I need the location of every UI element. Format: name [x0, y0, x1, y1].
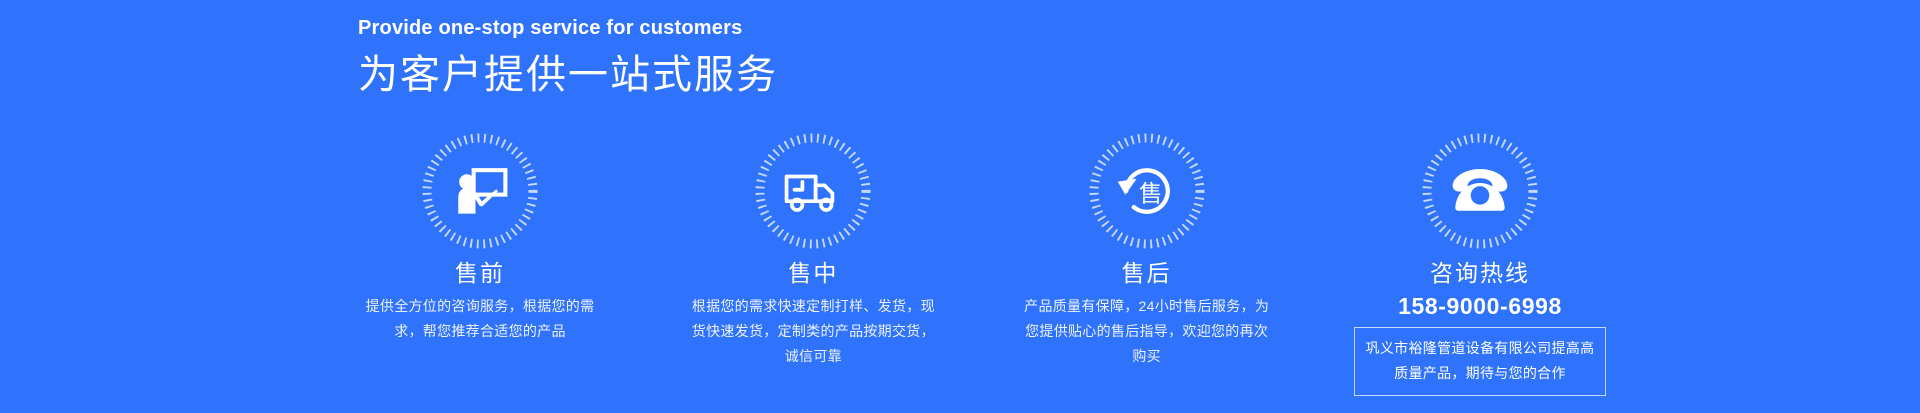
card-title-insale: 售中 [788, 256, 838, 291]
service-card-presale[interactable]: 售前 提供全方位的咨询服务，根据您的需求，帮您推荐合适您的产品 [330, 132, 630, 344]
telephone-icon [1444, 155, 1516, 227]
card-desc-aftersale: 产品质量有保障，24小时售后服务，为您提供贴心的售后指导，欢迎您的再次购买 [1021, 294, 1273, 369]
service-cards: 售前 提供全方位的咨询服务，根据您的需求，帮您推荐合适您的产品 [330, 132, 1630, 396]
service-card-hotline[interactable]: 咨询热线 158-9000-6998 巩义市裕隆管道设备有限公司提高高质量产品，… [1330, 132, 1630, 396]
icon-ring-hotline [1421, 132, 1539, 250]
company-note-box: 巩义市裕隆管道设备有限公司提高高质量产品，期待与您的合作 [1354, 327, 1606, 396]
presenter-board-icon [444, 155, 516, 227]
icon-ring-presale [421, 132, 539, 250]
banner-headline: 为客户提供一站式服务 [358, 48, 778, 102]
card-title-presale: 售前 [455, 256, 505, 291]
service-banner: Provide one-stop service for customers 为… [0, 0, 1920, 413]
icon-ring-insale [754, 132, 872, 250]
service-card-aftersale[interactable]: 售 售后 产品质量有保障，24小时售后服务，为您提供贴心的售后指导，欢迎您的再次… [997, 132, 1297, 369]
svg-text:售: 售 [1139, 180, 1163, 206]
card-title-aftersale: 售后 [1122, 256, 1172, 291]
card-desc-presale: 提供全方位的咨询服务，根据您的需求，帮您推荐合适您的产品 [354, 294, 606, 344]
delivery-truck-clock-icon [777, 155, 849, 227]
card-title-hotline: 咨询热线 [1430, 256, 1530, 291]
heading-block: Provide one-stop service for customers 为… [358, 14, 778, 102]
banner-eyebrow: Provide one-stop service for customers [358, 14, 778, 42]
hotline-phone-number: 158-9000-6998 [1398, 292, 1562, 321]
card-desc-insale: 根据您的需求快速定制打样、发货，现货快速发货，定制类的产品按期交货，诚信可靠 [687, 294, 939, 369]
return-arrow-sale-icon: 售 [1111, 155, 1183, 227]
icon-ring-aftersale: 售 [1088, 132, 1206, 250]
service-card-insale[interactable]: 售中 根据您的需求快速定制打样、发货，现货快速发货，定制类的产品按期交货，诚信可… [663, 132, 963, 369]
